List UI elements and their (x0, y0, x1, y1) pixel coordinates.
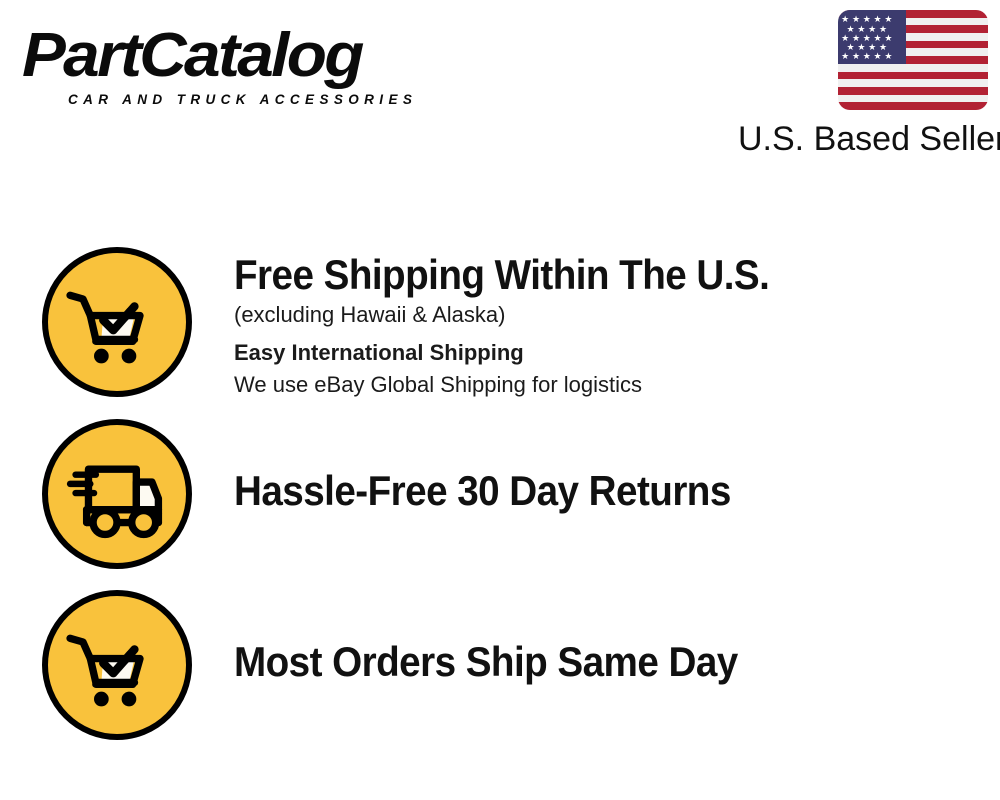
feature-headline: Free Shipping Within The U.S. (234, 251, 922, 299)
feature-text-block: Free Shipping Within The U.S. (excluding… (192, 247, 982, 401)
delivery-truck-icon (42, 419, 192, 569)
shopping-cart-check-icon (42, 590, 192, 740)
brand-logo[interactable]: PartCatalog CAR AND TRUCK ACCESSORIES (22, 22, 492, 117)
feature-text-block: Hassle-Free 30 Day Returns (192, 419, 982, 515)
feature-row: Most Orders Ship Same Day (42, 590, 982, 740)
feature-subline: (excluding Hawaii & Alaska) (234, 299, 982, 331)
feature-row: Hassle-Free 30 Day Returns (42, 419, 982, 569)
banner-page: PartCatalog CAR AND TRUCK ACCESSORIES ★ … (0, 0, 1000, 800)
feature-headline: Most Orders Ship Same Day (234, 638, 922, 686)
feature-subline: We use eBay Global Shipping for logistic… (234, 369, 982, 401)
feature-headline: Hassle-Free 30 Day Returns (234, 467, 922, 515)
us-flag-icon: ★ ★ ★ ★ ★ ★ ★ ★ ★ ★ ★ ★ ★ ★ ★ ★ ★ ★ ★ ★ (838, 10, 988, 110)
feature-text-block: Most Orders Ship Same Day (192, 590, 982, 686)
feature-subline: Easy International Shipping (234, 337, 982, 369)
us-based-seller-label: U.S. Based Seller (738, 119, 988, 159)
brand-tagline: CAR AND TRUCK ACCESSORIES (68, 92, 492, 107)
flag-canton: ★ ★ ★ ★ ★ ★ ★ ★ ★ ★ ★ ★ ★ ★ ★ ★ ★ ★ ★ ★ (838, 10, 906, 64)
shopping-cart-check-icon (42, 247, 192, 397)
brand-wordmark: PartCatalog (22, 22, 520, 90)
us-based-seller-badge: ★ ★ ★ ★ ★ ★ ★ ★ ★ ★ ★ ★ ★ ★ ★ ★ ★ ★ ★ ★ (738, 10, 988, 159)
feature-row: Free Shipping Within The U.S. (excluding… (42, 247, 982, 401)
